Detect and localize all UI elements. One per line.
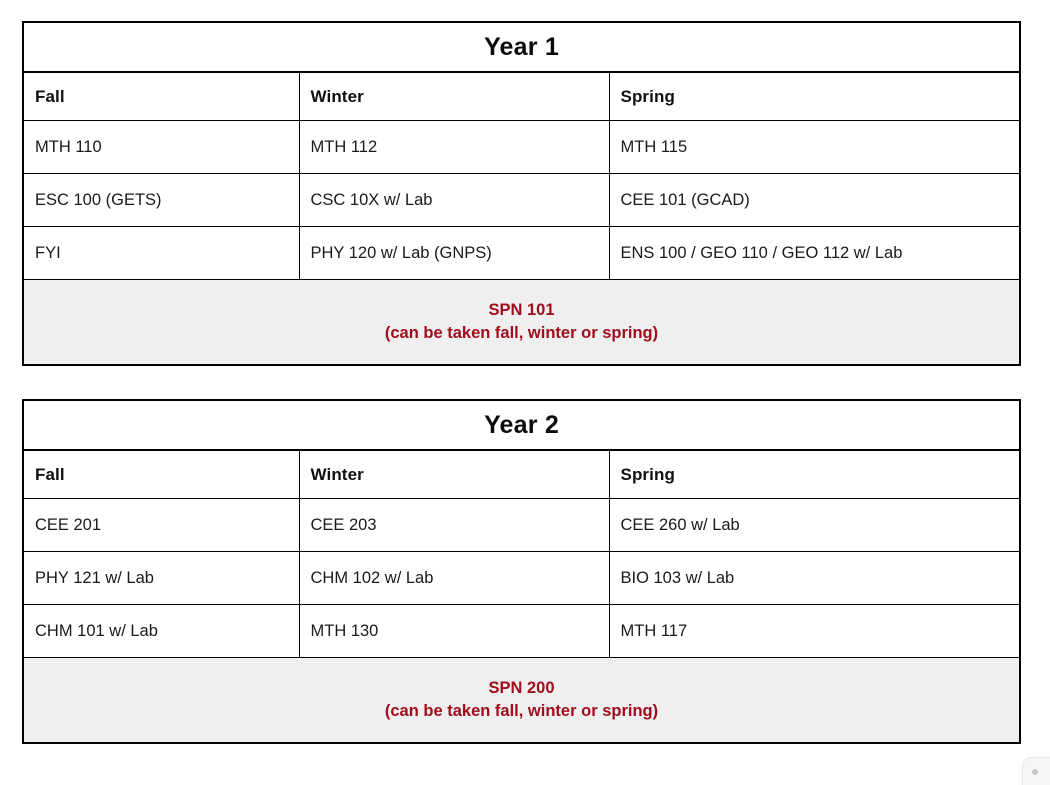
course-cell: PHY 121 w/ Lab	[23, 552, 299, 605]
course-cell: CEE 101 (GCAD)	[609, 174, 1020, 227]
course-cell: BIO 103 w/ Lab	[609, 552, 1020, 605]
scroll-handle-dot-icon	[1032, 769, 1038, 775]
table-row: PHY 121 w/ Lab CHM 102 w/ Lab BIO 103 w/…	[23, 552, 1020, 605]
year-title: Year 2	[23, 400, 1020, 450]
term-header-fall: Fall	[23, 72, 299, 121]
year-header-row: Year 1	[23, 22, 1020, 72]
year-title: Year 1	[23, 22, 1020, 72]
year-2-plan-table: Year 2 Fall Winter Spring CEE 201 CEE 20…	[22, 399, 1021, 744]
flexible-course-detail: (can be taken fall, winter or spring)	[30, 322, 1013, 345]
year-header-row: Year 2	[23, 400, 1020, 450]
scroll-corner-artifact[interactable]	[1022, 757, 1050, 785]
flexible-course-note: SPN 200 (can be taken fall, winter or sp…	[23, 658, 1020, 744]
table-row: CHM 101 w/ Lab MTH 130 MTH 117	[23, 605, 1020, 658]
table-row: ESC 100 (GETS) CSC 10X w/ Lab CEE 101 (G…	[23, 174, 1020, 227]
term-header-spring: Spring	[609, 450, 1020, 499]
span-note-row: SPN 200 (can be taken fall, winter or sp…	[23, 658, 1020, 744]
course-cell: MTH 115	[609, 121, 1020, 174]
course-cell: CHM 101 w/ Lab	[23, 605, 299, 658]
flexible-course-detail: (can be taken fall, winter or spring)	[30, 700, 1013, 723]
term-header-row: Fall Winter Spring	[23, 450, 1020, 499]
term-header-spring: Spring	[609, 72, 1020, 121]
course-cell: CEE 260 w/ Lab	[609, 499, 1020, 552]
course-cell: CSC 10X w/ Lab	[299, 174, 609, 227]
table-row: MTH 110 MTH 112 MTH 115	[23, 121, 1020, 174]
course-cell: MTH 112	[299, 121, 609, 174]
course-cell: CHM 102 w/ Lab	[299, 552, 609, 605]
table-row: CEE 201 CEE 203 CEE 260 w/ Lab	[23, 499, 1020, 552]
course-cell: MTH 117	[609, 605, 1020, 658]
term-header-winter: Winter	[299, 450, 609, 499]
flexible-course-note: SPN 101 (can be taken fall, winter or sp…	[23, 280, 1020, 366]
document-page: Year 1 Fall Winter Spring MTH 110 MTH 11…	[0, 0, 1050, 785]
course-cell: MTH 110	[23, 121, 299, 174]
term-header-fall: Fall	[23, 450, 299, 499]
year-1-plan-table: Year 1 Fall Winter Spring MTH 110 MTH 11…	[22, 21, 1021, 366]
span-note-row: SPN 101 (can be taken fall, winter or sp…	[23, 280, 1020, 366]
term-header-winter: Winter	[299, 72, 609, 121]
course-cell: CEE 203	[299, 499, 609, 552]
flexible-course-code: SPN 101	[30, 299, 1013, 322]
term-header-row: Fall Winter Spring	[23, 72, 1020, 121]
course-cell: CEE 201	[23, 499, 299, 552]
course-cell: PHY 120 w/ Lab (GNPS)	[299, 227, 609, 280]
course-cell: ENS 100 / GEO 110 / GEO 112 w/ Lab	[609, 227, 1020, 280]
course-cell: MTH 130	[299, 605, 609, 658]
flexible-course-code: SPN 200	[30, 677, 1013, 700]
course-cell: FYI	[23, 227, 299, 280]
course-cell: ESC 100 (GETS)	[23, 174, 299, 227]
table-row: FYI PHY 120 w/ Lab (GNPS) ENS 100 / GEO …	[23, 227, 1020, 280]
